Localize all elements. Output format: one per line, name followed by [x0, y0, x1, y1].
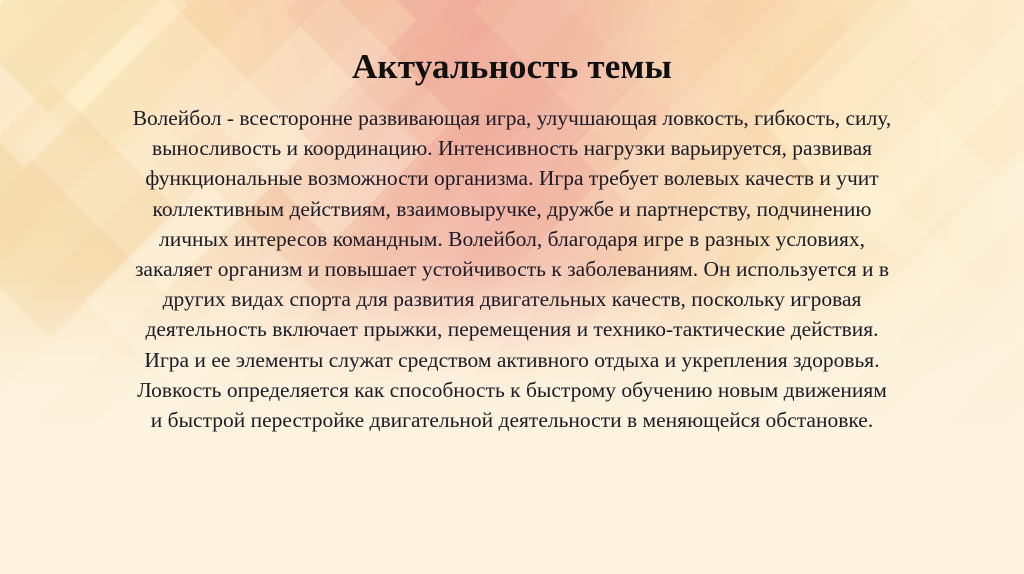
body-text-line: Волейбол - всесторонне развивающая игра,… — [24, 103, 1000, 133]
body-text-block: Волейбол - всесторонне развивающая игра,… — [24, 103, 1000, 435]
body-text-line: Ловкость определяется как способность к … — [24, 375, 1000, 405]
slide-content: Актуальность темы Волейбол - всесторонне… — [0, 0, 1024, 574]
body-text-line: других видах спорта для развития двигате… — [24, 284, 1000, 314]
body-text-line: и быстрой перестройке двигательной деяте… — [24, 405, 1000, 435]
body-text-line: закаляет организм и повышает устойчивост… — [24, 254, 1000, 284]
body-text-line: Игра и ее элементы служат средством акти… — [24, 345, 1000, 375]
body-text-line: выносливость и координацию. Интенсивност… — [24, 133, 1000, 163]
body-text-line: личных интересов командным. Волейбол, бл… — [24, 224, 1000, 254]
body-text-line: функциональные возможности организма. Иг… — [24, 163, 1000, 193]
slide-title: Актуальность темы — [0, 46, 1024, 88]
body-text-line: деятельность включает прыжки, перемещени… — [24, 314, 1000, 344]
body-text-line: коллективным действиям, взаимовыручке, д… — [24, 194, 1000, 224]
presentation-slide: Актуальность темы Волейбол - всесторонне… — [0, 0, 1024, 574]
